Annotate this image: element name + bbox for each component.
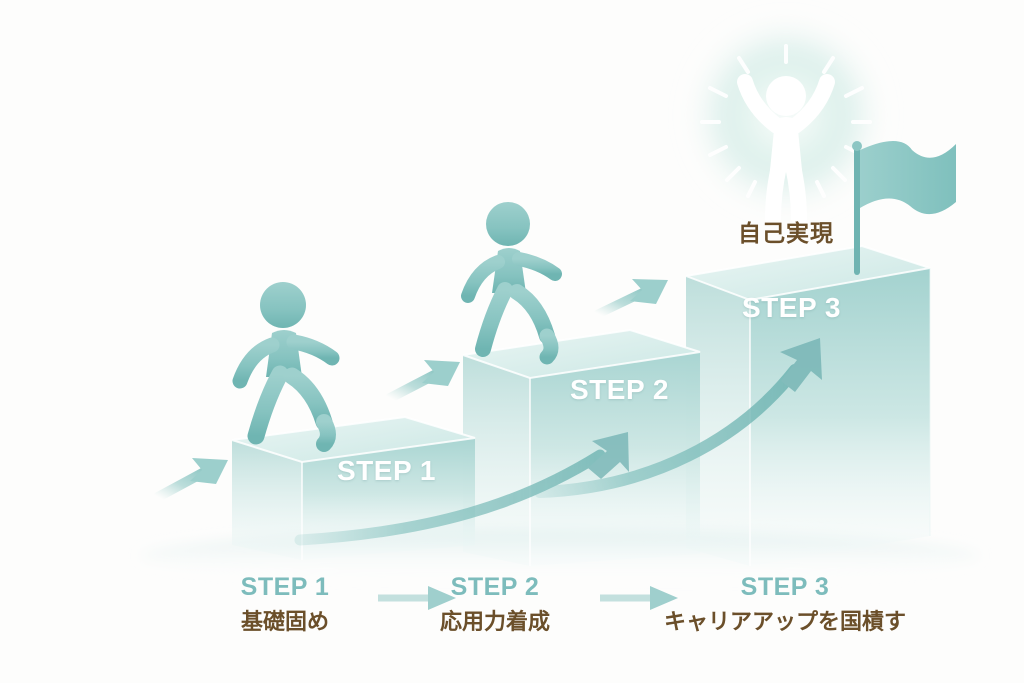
legend-step-title-3: STEP 3 — [620, 572, 950, 602]
legend-step-caption-2: 応用力着成 — [400, 606, 590, 638]
block-label-step3: STEP 3 — [742, 292, 841, 324]
legend-step-title-2: STEP 2 — [400, 572, 590, 602]
legend-row: STEP 1 基礎固め STEP 2 応用力着成 STEP 3 キャリアアップを… — [0, 572, 1024, 662]
legend-item-step1: STEP 1 基礎固め — [190, 572, 380, 638]
diagram-canvas: STEP 1 STEP 2 STEP 3 自己実現 STEP 1 基礎固め ST… — [0, 0, 1024, 683]
block-label-step2: STEP 2 — [570, 374, 669, 406]
legend-step-caption-1: 基礎固め — [190, 606, 380, 638]
legend-item-step2: STEP 2 応用力着成 — [400, 572, 590, 638]
walking-person-step1 — [240, 282, 332, 444]
block-label-step1: STEP 1 — [337, 455, 436, 487]
diagonal-arrow-2 — [390, 360, 460, 398]
walking-person-step2 — [468, 202, 555, 357]
legend-item-step3: STEP 3 キャリアアップを国樍す — [620, 572, 950, 638]
diagonal-arrow-1 — [158, 458, 228, 497]
legend-step-caption-3: キャリアアップを国樍す — [620, 606, 950, 638]
goal-label: 自己実現 — [738, 214, 834, 248]
step-block-2 — [463, 330, 700, 566]
diagonal-arrow-3 — [598, 279, 668, 314]
legend-step-title-1: STEP 1 — [190, 572, 380, 602]
